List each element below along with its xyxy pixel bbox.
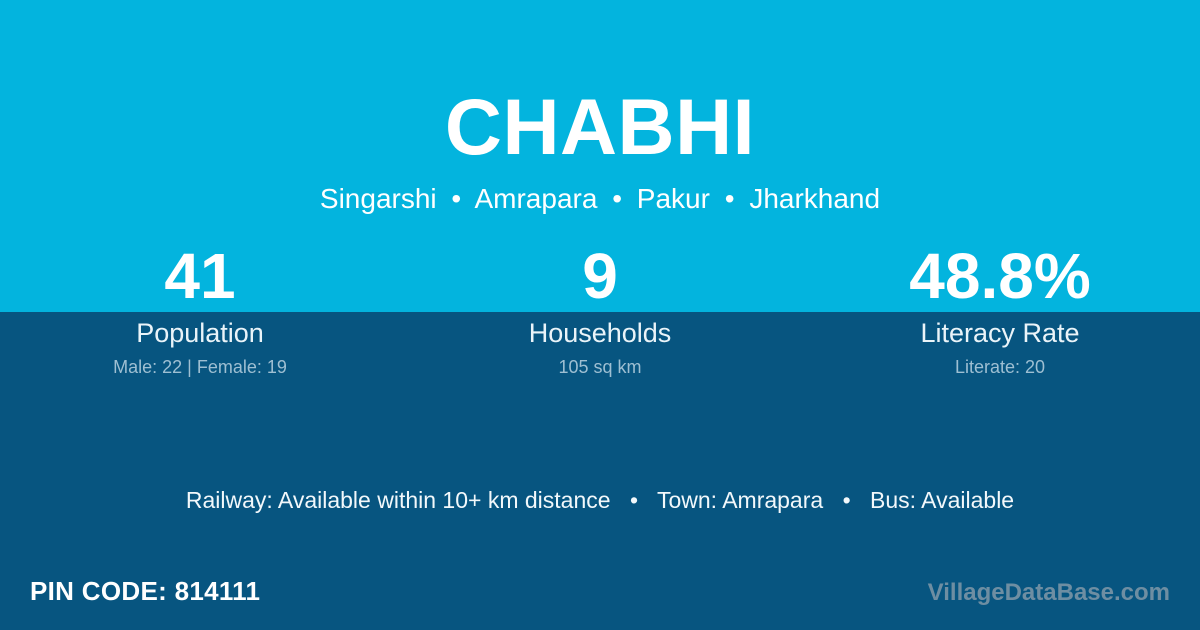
amenity-town: Town: Amrapara: [657, 487, 823, 513]
amenity-separator-icon: •: [830, 487, 864, 513]
village-info-card: CHABHI Singarshi • Amrapara • Pakur • Jh…: [0, 0, 1200, 630]
breadcrumb: Singarshi • Amrapara • Pakur • Jharkhand: [0, 181, 1200, 217]
stat-label: Literacy Rate: [800, 317, 1200, 349]
amenity-bus: Bus: Available: [870, 487, 1014, 513]
page-title: CHABHI: [0, 84, 1200, 170]
breadcrumb-part-3: Jharkhand: [749, 183, 880, 214]
stat-label: Households: [400, 317, 800, 349]
pin-code: PIN CODE: 814111: [30, 575, 260, 607]
stat-literacy-rate: 48.8% Literacy Rate Literate: 20: [800, 240, 1200, 378]
amenities-line: Railway: Available within 10+ km distanc…: [0, 485, 1200, 515]
stat-households: 9 Households 105 sq km: [400, 240, 800, 378]
stats-row: 41 Population Male: 22 | Female: 19 9 Ho…: [0, 240, 1200, 378]
breadcrumb-part-0: Singarshi: [320, 183, 437, 214]
breadcrumb-separator-icon: •: [444, 183, 468, 214]
breadcrumb-separator-icon: •: [605, 183, 629, 214]
stat-population: 41 Population Male: 22 | Female: 19: [0, 240, 400, 378]
stat-value: 48.8%: [800, 240, 1200, 312]
stat-sublabel: 105 sq km: [400, 356, 800, 378]
stat-value: 41: [0, 240, 400, 312]
stat-sublabel: Literate: 20: [800, 356, 1200, 378]
stat-sublabel: Male: 22 | Female: 19: [0, 356, 400, 378]
stat-value: 9: [400, 240, 800, 312]
site-watermark: VillageDataBase.com: [928, 578, 1170, 608]
breadcrumb-separator-icon: •: [718, 183, 742, 214]
breadcrumb-part-1: Amrapara: [474, 183, 597, 214]
stat-label: Population: [0, 317, 400, 349]
amenity-railway: Railway: Available within 10+ km distanc…: [186, 487, 611, 513]
amenity-separator-icon: •: [617, 487, 651, 513]
breadcrumb-part-2: Pakur: [637, 183, 710, 214]
